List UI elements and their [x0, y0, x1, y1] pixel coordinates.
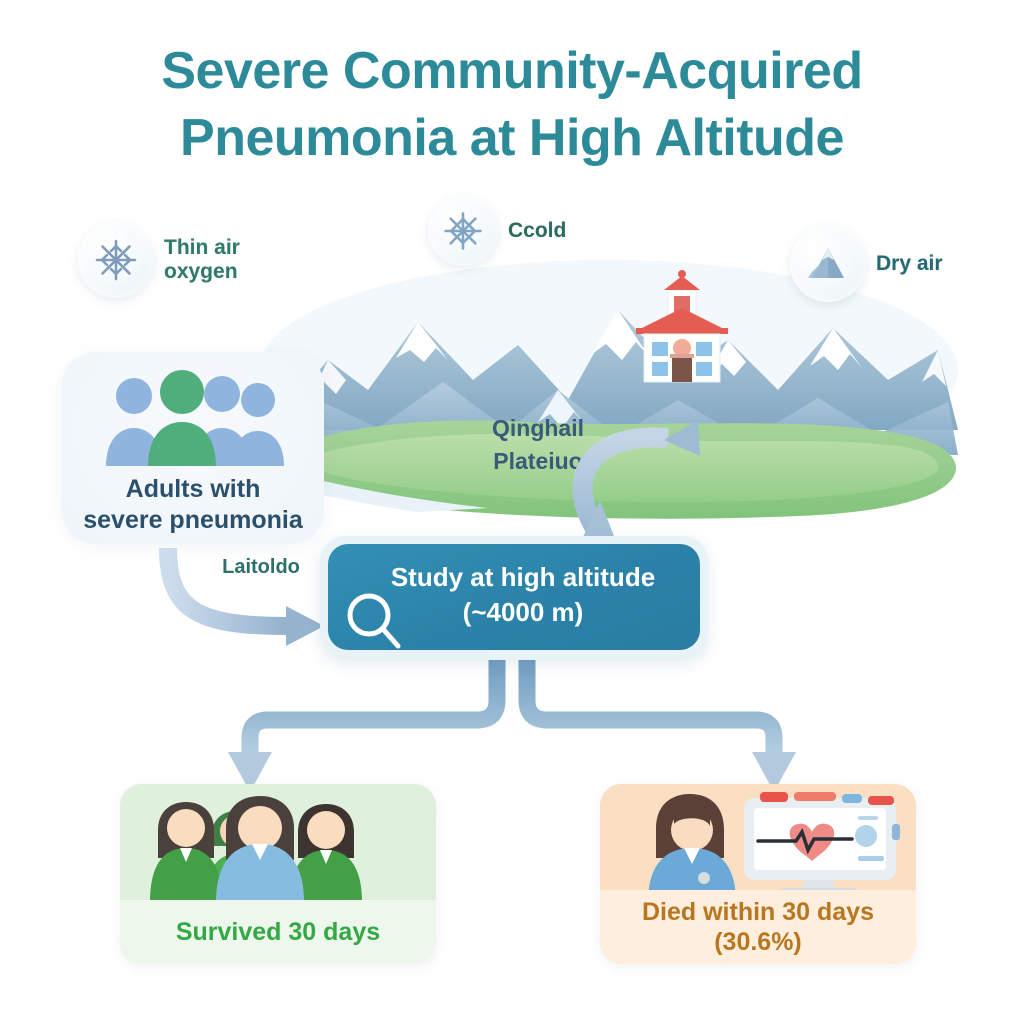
snowflake-icon: [428, 196, 498, 266]
study-box[interactable]: Study at high altitude (~4000 m): [320, 536, 708, 658]
population-card[interactable]: Adults with severe pneumonia: [62, 352, 324, 544]
patients-group-icon: [120, 784, 436, 902]
badge-label-line-2: oxygen: [164, 260, 240, 284]
study-label-line-2: (~4000 m): [346, 595, 700, 630]
people-group-icon: [62, 362, 324, 470]
condition-badge-thin-air[interactable]: Thin air oxygen: [78, 222, 240, 298]
outcome-survived-label: Survived 30 days: [120, 900, 436, 964]
mountain-icon: [790, 226, 866, 302]
population-label-line-1: Adults with: [62, 474, 324, 505]
title-line-2: Pneumonia at High Altitude: [0, 105, 1024, 172]
outcome-card-died[interactable]: Died within 30 days (30.6%): [600, 784, 916, 964]
condition-badge-cold-label: Ccold: [508, 219, 566, 243]
clinician-monitor-icon: [600, 784, 916, 902]
plateau-label: Qinghail Plateiuo: [448, 412, 628, 479]
condition-badge-thin-air-label: Thin air oxygen: [164, 236, 240, 283]
population-label: Adults with severe pneumonia: [62, 474, 324, 535]
study-box-inner: Study at high altitude (~4000 m): [328, 544, 700, 650]
page-title: Severe Community-Acquired Pneumonia at H…: [0, 38, 1024, 171]
badge-label-line-1: Dry air: [876, 252, 943, 275]
condition-badge-dry-air[interactable]: Dry air: [790, 226, 943, 302]
infographic-canvas: Severe Community-Acquired Pneumonia at H…: [0, 0, 1024, 1024]
badge-label-line-1: Thin air: [164, 236, 240, 259]
outcome-died-line-2: (30.6%): [642, 927, 874, 957]
snowflake-icon: [78, 222, 154, 298]
condition-badge-dry-air-label: Dry air: [876, 252, 943, 276]
outcome-died-line-1: Died within 30 days: [642, 897, 874, 927]
outcome-died-label: Died within 30 days (30.6%): [600, 890, 916, 964]
study-box-label: Study at high altitude (~4000 m): [328, 560, 700, 630]
condition-badge-cold[interactable]: Ccold: [428, 196, 566, 266]
study-label-line-1: Study at high altitude: [346, 560, 700, 595]
plateau-label-line-1: Qinghail: [448, 412, 628, 445]
connector-note-label: Laitoldo: [196, 556, 326, 579]
population-label-line-2: severe pneumonia: [62, 505, 324, 536]
badge-label-line-1: Ccold: [508, 219, 566, 242]
outcome-card-survived[interactable]: Survived 30 days: [120, 784, 436, 964]
connector-study-to-outcomes: [228, 660, 796, 792]
plateau-label-line-2: Plateiuo: [448, 445, 628, 478]
title-line-1: Severe Community-Acquired: [0, 38, 1024, 105]
outcome-survived-line-1: Survived 30 days: [176, 917, 380, 947]
